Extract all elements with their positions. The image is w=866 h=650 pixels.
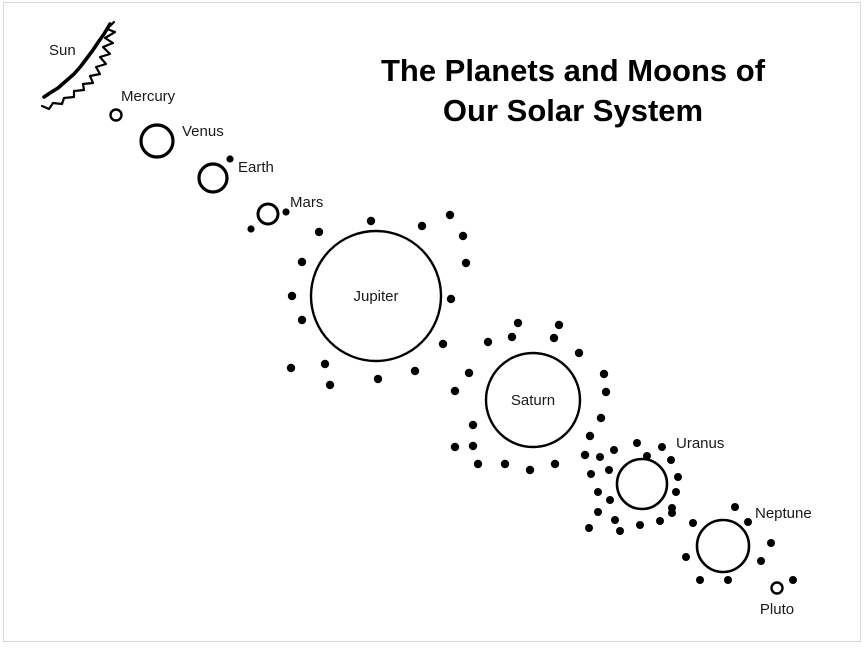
moon-dot — [226, 155, 233, 162]
moon-dot — [326, 381, 334, 389]
moon-dot — [586, 432, 594, 440]
moon-dot — [602, 388, 610, 396]
moon-dot — [367, 217, 375, 225]
planet-group-pluto[interactable]: Pluto — [760, 576, 797, 618]
moon-dot — [668, 509, 676, 517]
moon-dot — [689, 519, 697, 527]
slide-title: The Planets and Moons of Our Solar Syste… — [381, 53, 766, 128]
sun-label: Sun — [49, 42, 76, 59]
moon-dot — [282, 208, 289, 215]
moon-dot — [600, 370, 608, 378]
moon-dot — [321, 360, 329, 368]
moon-dot — [594, 508, 602, 516]
moon-dot — [605, 466, 613, 474]
planet-label-saturn: Saturn — [511, 392, 555, 409]
planet-label-earth: Earth — [238, 159, 274, 176]
planet-label-mercury: Mercury — [121, 88, 176, 105]
moon-dot — [465, 369, 473, 377]
moon-dot — [551, 460, 559, 468]
moon-dot — [744, 518, 752, 526]
moon-dot — [550, 334, 558, 342]
moon-dot — [451, 443, 459, 451]
moon-dot — [596, 453, 604, 461]
planet-circle-earth[interactable] — [199, 164, 227, 192]
moon-dot — [656, 517, 664, 525]
moon-dot — [606, 496, 614, 504]
planet-bodies-layer: MercuryVenusEarthMarsJupiterSaturnUranus… — [111, 88, 812, 618]
moon-dot — [469, 442, 477, 450]
planet-circle-venus[interactable] — [141, 125, 173, 157]
moon-dot — [672, 488, 680, 496]
planet-circle-pluto[interactable] — [772, 583, 783, 594]
moon-dot — [462, 259, 470, 267]
moon-dot — [636, 521, 644, 529]
moon-dot — [594, 488, 602, 496]
moon-dot — [575, 349, 583, 357]
moon-dot — [298, 258, 306, 266]
planet-circle-mars[interactable] — [258, 204, 278, 224]
moon-dot — [315, 228, 323, 236]
planet-circle-uranus[interactable] — [617, 459, 667, 509]
moon-dot — [610, 446, 618, 454]
title-line-1: The Planets and Moons of — [381, 53, 766, 88]
moon-dot — [459, 232, 467, 240]
moon-dot — [411, 367, 419, 375]
planet-label-pluto: Pluto — [760, 601, 794, 618]
planet-circle-neptune[interactable] — [697, 520, 749, 572]
moon-dot — [597, 414, 605, 422]
planet-label-jupiter: Jupiter — [353, 288, 398, 305]
moon-dot — [616, 527, 624, 535]
planet-label-uranus: Uranus — [676, 435, 724, 452]
moon-dot — [611, 516, 619, 524]
moon-dot — [731, 503, 739, 511]
planet-label-neptune: Neptune — [755, 505, 812, 522]
moon-dot — [446, 211, 454, 219]
moon-dot — [674, 473, 682, 481]
moon-dot — [298, 316, 306, 324]
title-line-2: Our Solar System — [443, 93, 703, 128]
moon-dot — [451, 387, 459, 395]
moon-dot — [288, 292, 296, 300]
moon-dot — [447, 295, 455, 303]
moon-dot — [682, 553, 690, 561]
planet-label-mars: Mars — [290, 194, 323, 211]
moon-dot — [418, 222, 426, 230]
planet-group-jupiter[interactable]: Jupiter — [287, 211, 470, 389]
solar-system-diagram: The Planets and Moons of Our Solar Syste… — [0, 0, 866, 650]
moon-dot — [667, 456, 675, 464]
planet-group-mercury[interactable]: Mercury — [111, 88, 176, 121]
planet-group-mars[interactable]: Mars — [247, 194, 323, 233]
moon-dot — [555, 321, 563, 329]
planet-label-venus: Venus — [182, 123, 224, 140]
planet-group-saturn[interactable]: Saturn — [451, 319, 610, 474]
planet-group-earth[interactable]: Earth — [199, 155, 274, 192]
moon-dot — [374, 375, 382, 383]
moon-dot — [587, 470, 595, 478]
planet-circle-mercury[interactable] — [111, 110, 122, 121]
moon-dot — [247, 225, 254, 232]
moon-dot — [696, 576, 704, 584]
sun-group[interactable]: Sun — [42, 22, 115, 109]
moon-dot — [469, 421, 477, 429]
moon-dot — [526, 466, 534, 474]
moon-dot — [514, 319, 522, 327]
moon-dot — [724, 576, 732, 584]
moon-dot — [508, 333, 516, 341]
moon-dot — [585, 524, 593, 532]
moon-dot — [757, 557, 765, 565]
planet-group-uranus[interactable]: Uranus — [585, 435, 724, 535]
moon-dot — [474, 460, 482, 468]
moon-dot — [439, 340, 447, 348]
moon-dot — [658, 443, 666, 451]
planet-group-venus[interactable]: Venus — [141, 123, 224, 157]
moon-dot — [484, 338, 492, 346]
moon-dot — [633, 439, 641, 447]
slide-canvas: The Planets and Moons of Our Solar Syste… — [0, 0, 866, 650]
moon-dot — [287, 364, 295, 372]
moon-dot — [501, 460, 509, 468]
moon-dot — [789, 576, 797, 584]
moon-dot — [767, 539, 775, 547]
moon-dot — [581, 451, 589, 459]
planet-group-neptune[interactable]: Neptune — [668, 503, 812, 584]
sun-limb-arc — [44, 24, 110, 97]
